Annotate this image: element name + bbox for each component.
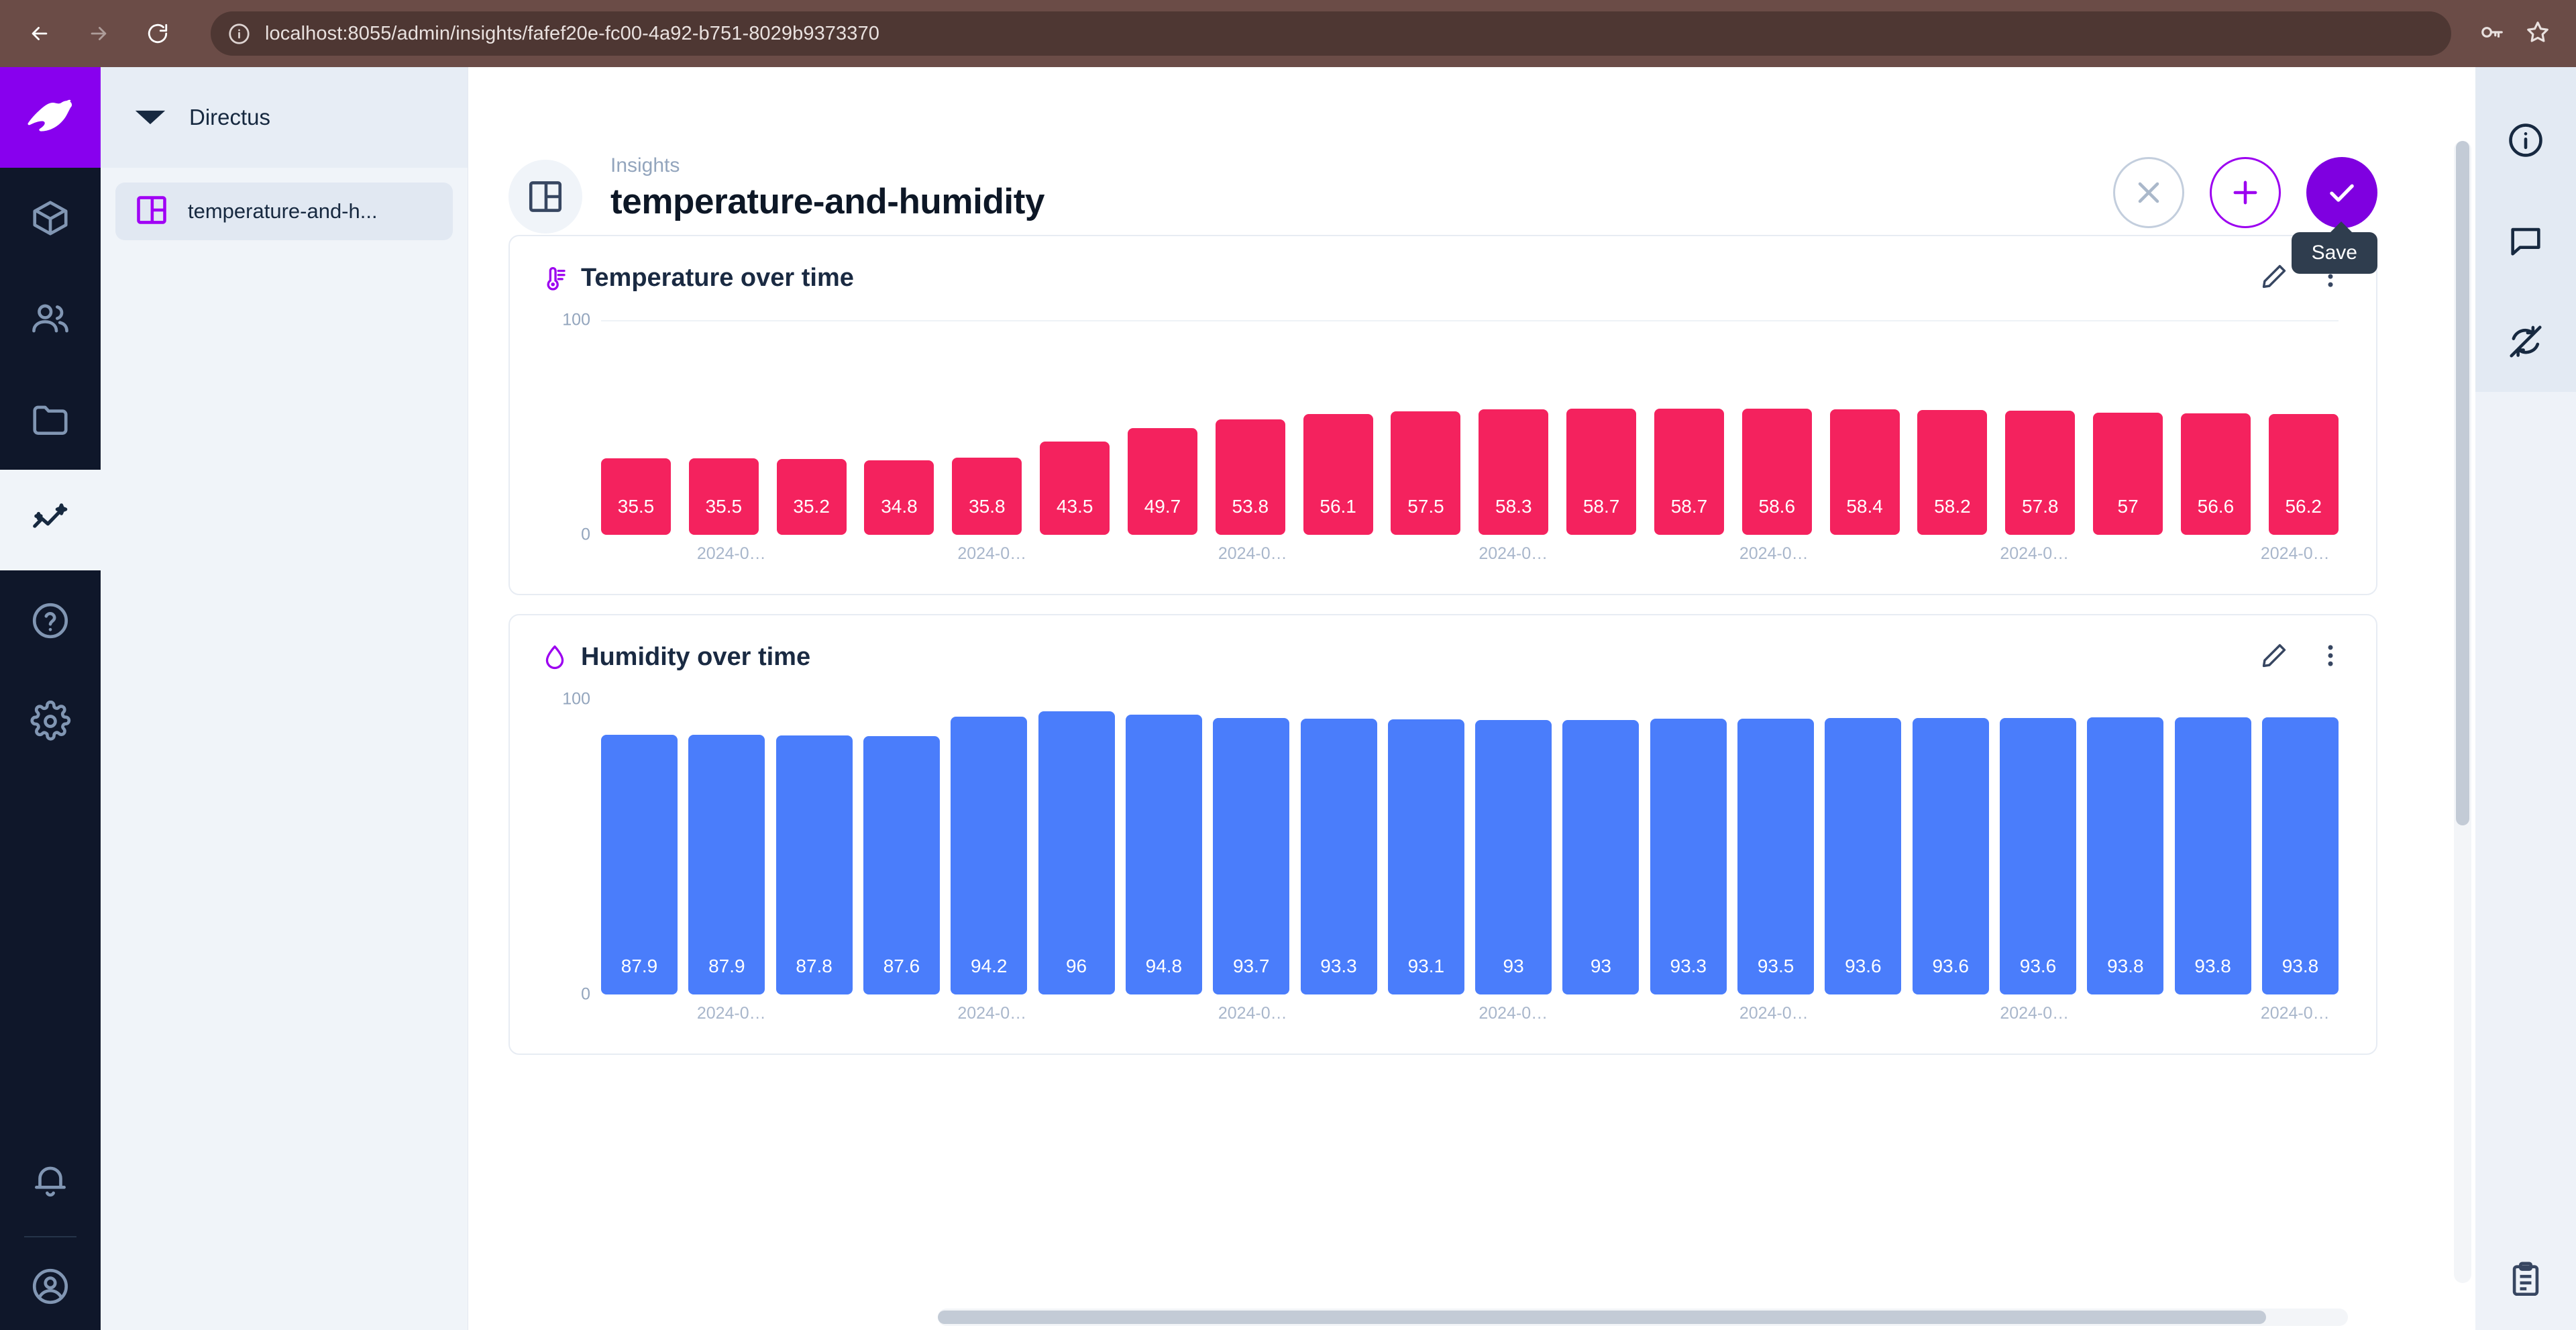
chart-bar[interactable]: 93.8 bbox=[2087, 717, 2163, 994]
bar-value-label: 58.6 bbox=[1759, 496, 1796, 517]
y-axis: 1000 bbox=[547, 699, 590, 994]
chart-bar[interactable]: 87.9 bbox=[601, 735, 678, 994]
chart-bar[interactable]: 58.3 bbox=[1479, 409, 1548, 535]
more-options-icon[interactable] bbox=[2316, 641, 2345, 674]
bar-value-label: 49.7 bbox=[1144, 496, 1181, 517]
vertical-scrollbar-thumb[interactable] bbox=[2456, 141, 2469, 825]
bar-value-label: 93.8 bbox=[2282, 956, 2319, 977]
bar-value-label: 57.8 bbox=[2022, 496, 2059, 517]
bar-value-label: 93 bbox=[1503, 956, 1524, 977]
x-axis: 2024-0…2024-0…2024-0…2024-0…2024-0…2024-… bbox=[601, 544, 2339, 582]
horizontal-scrollbar[interactable] bbox=[938, 1309, 2348, 1326]
module-item-insights[interactable] bbox=[0, 470, 101, 570]
right-sidebar-spacer bbox=[2475, 392, 2576, 1229]
sidebar-item-label: temperature-and-h... bbox=[188, 199, 378, 223]
sidebar-item-dashboard[interactable]: temperature-and-h... bbox=[115, 183, 453, 240]
x-axis-tick-label: 2024-0… bbox=[697, 1004, 766, 1023]
edit-panel-icon[interactable] bbox=[2259, 262, 2289, 295]
info-sidebar-toggle[interactable] bbox=[2475, 90, 2576, 191]
navigation-sidebar: Directus temperature-and-h... bbox=[101, 67, 468, 1330]
x-axis: 2024-0…2024-0…2024-0…2024-0…2024-0…2024-… bbox=[601, 1004, 2339, 1041]
chart-bar[interactable]: 58.6 bbox=[1742, 409, 1812, 535]
panel-title: Humidity over time bbox=[581, 643, 810, 672]
bar-value-label: 93.6 bbox=[1845, 956, 1882, 977]
header-actions: Save bbox=[2113, 157, 2377, 228]
bar-value-label: 87.9 bbox=[621, 956, 658, 977]
project-logo-icon bbox=[131, 97, 169, 138]
dashboard-scroll-area: Insights temperature-and-humidity Save bbox=[468, 67, 2451, 1305]
y-axis-tick-label: 100 bbox=[562, 690, 590, 709]
chart-bar[interactable]: 57.8 bbox=[2005, 411, 2075, 535]
panel-title: Temperature over time bbox=[581, 264, 854, 293]
horizontal-scrollbar-thumb[interactable] bbox=[938, 1311, 2266, 1324]
cancel-button[interactable] bbox=[2113, 157, 2184, 228]
chart-bar[interactable]: 58.7 bbox=[1654, 409, 1724, 535]
bar-value-label: 58.4 bbox=[1846, 496, 1883, 517]
bar-value-label: 35.8 bbox=[969, 496, 1006, 517]
chart-bar[interactable]: 93 bbox=[1562, 720, 1639, 994]
humidity-icon bbox=[541, 644, 569, 672]
bar-value-label: 58.2 bbox=[1934, 496, 1971, 517]
directus-logo[interactable] bbox=[0, 67, 101, 168]
x-axis-tick-label: 2024-0… bbox=[1739, 1004, 1809, 1023]
bar-value-label: 34.8 bbox=[881, 496, 918, 517]
password-key-icon[interactable] bbox=[2479, 19, 2505, 48]
chart-bar[interactable]: 93 bbox=[1475, 720, 1552, 994]
bar-value-label: 87.6 bbox=[883, 956, 920, 977]
bar-value-label: 56.1 bbox=[1320, 496, 1356, 517]
chart-bar[interactable]: 93.6 bbox=[2000, 718, 2076, 994]
sidebar-header: Directus bbox=[101, 67, 468, 168]
chart-bar[interactable]: 43.5 bbox=[1040, 442, 1110, 535]
x-axis-tick-label: 2024-0… bbox=[957, 1004, 1026, 1023]
sidebar-nav-list: temperature-and-h... bbox=[101, 168, 468, 240]
chart-bar[interactable]: 58.2 bbox=[1917, 410, 1987, 535]
panel-list: Temperature over time100035.535.535.234.… bbox=[468, 235, 2451, 1055]
bar-value-label: 93.1 bbox=[1408, 956, 1445, 977]
notifications-icon-button[interactable] bbox=[0, 1130, 101, 1231]
main-content-region: Insights temperature-and-humidity Save bbox=[468, 67, 2475, 1330]
bar-value-label: 93.5 bbox=[1758, 956, 1794, 977]
chart-bar[interactable]: 93.3 bbox=[1301, 719, 1377, 994]
bar-value-label: 57 bbox=[2118, 496, 2139, 517]
bar-value-label: 87.8 bbox=[796, 956, 833, 977]
chart-bar[interactable]: 58.4 bbox=[1830, 409, 1900, 535]
bar-value-label: 93.3 bbox=[1670, 956, 1707, 977]
chart-bar[interactable]: 35.5 bbox=[601, 458, 671, 535]
edit-panel-icon[interactable] bbox=[2259, 641, 2289, 674]
chart-bar[interactable]: 53.8 bbox=[1216, 419, 1285, 535]
x-axis-tick-label: 2024-0… bbox=[1739, 544, 1809, 564]
module-item-settings[interactable] bbox=[0, 671, 101, 772]
chart-plot-area: 100035.535.535.234.835.843.549.753.856.1… bbox=[547, 320, 2339, 535]
bar-value-label: 58.7 bbox=[1583, 496, 1620, 517]
module-item-content[interactable] bbox=[0, 168, 101, 268]
chart-bar[interactable]: 56.2 bbox=[2269, 414, 2339, 535]
bar-value-label: 57.5 bbox=[1407, 496, 1444, 517]
panel-header: Humidity over time bbox=[510, 615, 2376, 679]
x-axis-tick-label: 2024-0… bbox=[1218, 544, 1287, 564]
clipboard-icon[interactable] bbox=[2475, 1229, 2576, 1330]
x-axis-tick-label: 2024-0… bbox=[2261, 1004, 2330, 1023]
bar-chart: 100087.987.987.887.694.29694.893.793.393… bbox=[510, 679, 2376, 1041]
chart-bar[interactable]: 93.8 bbox=[2175, 717, 2251, 994]
x-axis-tick-label: 2024-0… bbox=[1218, 1004, 1287, 1023]
y-axis-tick-label: 0 bbox=[581, 985, 590, 1005]
chart-bar[interactable]: 56.1 bbox=[1303, 414, 1373, 535]
x-axis-tick-label: 2024-0… bbox=[1479, 544, 1548, 564]
bar-value-label: 93 bbox=[1591, 956, 1611, 977]
url-bar[interactable]: localhost:8055/admin/insights/fafef20e-f… bbox=[211, 11, 2451, 56]
bar-chart: 100035.535.535.234.835.843.549.753.856.1… bbox=[510, 300, 2376, 582]
module-bar bbox=[0, 67, 101, 1330]
x-axis-tick-label: 2024-0… bbox=[1479, 1004, 1548, 1023]
chart-plot-area: 100087.987.987.887.694.29694.893.793.393… bbox=[547, 699, 2339, 994]
dashboard-panel: Humidity over time100087.987.987.887.694… bbox=[508, 614, 2377, 1055]
chart-bar[interactable]: 93.8 bbox=[2262, 717, 2339, 994]
vertical-scrollbar[interactable] bbox=[2454, 141, 2471, 1283]
bar-value-label: 56.6 bbox=[2198, 496, 2235, 517]
bar-value-label: 56.2 bbox=[2285, 496, 2322, 517]
bar-value-label: 93.8 bbox=[2107, 956, 2144, 977]
chart-bar[interactable]: 96 bbox=[1038, 711, 1115, 994]
dashboard-icon bbox=[134, 193, 169, 231]
browser-reload-button[interactable] bbox=[137, 13, 178, 54]
bar-value-label: 93.8 bbox=[2194, 956, 2231, 977]
module-item-files[interactable] bbox=[0, 369, 101, 470]
page-title: temperature-and-humidity bbox=[610, 181, 1044, 222]
bar-value-label: 93.6 bbox=[2020, 956, 2057, 977]
page-header-icon bbox=[508, 160, 582, 234]
chart-bar[interactable]: 87.8 bbox=[776, 735, 853, 994]
bar-value-label: 93.7 bbox=[1233, 956, 1270, 977]
chart-bar[interactable]: 57 bbox=[2093, 413, 2163, 535]
chart-bar[interactable]: 93.6 bbox=[1825, 718, 1901, 994]
chart-bar[interactable]: 87.6 bbox=[863, 736, 940, 994]
chart-bar[interactable]: 35.8 bbox=[952, 458, 1022, 535]
chart-bar[interactable]: 35.2 bbox=[777, 459, 847, 535]
panel-tools bbox=[2259, 641, 2345, 674]
y-axis-tick-label: 0 bbox=[581, 525, 590, 545]
bar-value-label: 87.9 bbox=[708, 956, 745, 977]
y-axis: 1000 bbox=[547, 320, 590, 535]
chart-bar[interactable]: 49.7 bbox=[1128, 428, 1197, 535]
chart-bar[interactable]: 94.8 bbox=[1126, 715, 1202, 994]
chart-bar[interactable]: 87.9 bbox=[688, 735, 765, 994]
bars-container: 35.535.535.234.835.843.549.753.856.157.5… bbox=[601, 320, 2339, 535]
bar-value-label: 58.7 bbox=[1671, 496, 1708, 517]
url-text: localhost:8055/admin/insights/fafef20e-f… bbox=[265, 23, 2434, 45]
bar-value-label: 94.2 bbox=[971, 956, 1008, 977]
bar-value-label: 58.3 bbox=[1495, 496, 1532, 517]
bar-value-label: 43.5 bbox=[1057, 496, 1093, 517]
bar-value-label: 35.2 bbox=[793, 496, 830, 517]
breadcrumb[interactable]: Insights bbox=[610, 154, 1044, 177]
module-item-help[interactable] bbox=[0, 570, 101, 671]
save-button[interactable] bbox=[2306, 157, 2377, 228]
chart-bar[interactable]: 57.5 bbox=[1391, 411, 1460, 535]
x-axis-tick-label: 2024-0… bbox=[2261, 544, 2330, 564]
comments-sidebar-toggle[interactable] bbox=[2475, 191, 2576, 291]
save-tooltip: Save bbox=[2292, 232, 2377, 274]
bar-value-label: 94.8 bbox=[1146, 956, 1183, 977]
browser-forward-button[interactable] bbox=[78, 13, 119, 54]
chart-bar[interactable]: 35.5 bbox=[689, 458, 759, 535]
auto-refresh-toggle[interactable] bbox=[2475, 291, 2576, 392]
account-icon-button[interactable] bbox=[0, 1243, 101, 1330]
chart-bar[interactable]: 93.1 bbox=[1388, 719, 1464, 994]
chart-bar[interactable]: 94.2 bbox=[951, 717, 1027, 994]
x-axis-tick-label: 2024-0… bbox=[2000, 1004, 2069, 1023]
chart-bar[interactable]: 93.7 bbox=[1213, 718, 1289, 994]
chart-bar[interactable]: 58.7 bbox=[1566, 409, 1636, 535]
right-sidebar bbox=[2475, 67, 2576, 1330]
add-panel-button[interactable] bbox=[2210, 157, 2281, 228]
x-axis-tick-label: 2024-0… bbox=[697, 544, 766, 564]
bar-value-label: 35.5 bbox=[618, 496, 655, 517]
chart-bar[interactable]: 93.5 bbox=[1737, 719, 1814, 994]
chart-bar[interactable]: 56.6 bbox=[2181, 413, 2251, 535]
module-bar-divider bbox=[24, 1236, 76, 1237]
x-axis-tick-label: 2024-0… bbox=[957, 544, 1026, 564]
bar-value-label: 53.8 bbox=[1232, 496, 1269, 517]
module-item-users[interactable] bbox=[0, 268, 101, 369]
bar-value-label: 93.3 bbox=[1320, 956, 1357, 977]
browser-chrome: localhost:8055/admin/insights/fafef20e-f… bbox=[0, 0, 2576, 67]
project-name: Directus bbox=[189, 105, 270, 130]
x-axis-tick-label: 2024-0… bbox=[2000, 544, 2069, 564]
site-info-icon[interactable] bbox=[228, 23, 250, 45]
bar-value-label: 35.5 bbox=[706, 496, 743, 517]
page-header: Insights temperature-and-humidity Save bbox=[468, 67, 2451, 235]
dashboard-panel: Temperature over time100035.535.535.234.… bbox=[508, 235, 2377, 595]
bar-value-label: 93.6 bbox=[1932, 956, 1969, 977]
chart-bar[interactable]: 34.8 bbox=[864, 460, 934, 535]
bookmark-star-icon[interactable] bbox=[2525, 19, 2551, 48]
bar-value-label: 96 bbox=[1066, 956, 1087, 977]
chart-bar[interactable]: 93.3 bbox=[1650, 719, 1727, 994]
y-axis-tick-label: 100 bbox=[562, 311, 590, 330]
panel-header: Temperature over time bbox=[510, 236, 2376, 300]
thermometer-icon bbox=[541, 264, 569, 293]
chart-bar[interactable]: 93.6 bbox=[1913, 718, 1989, 994]
browser-back-button[interactable] bbox=[19, 13, 60, 54]
bars-container: 87.987.987.887.694.29694.893.793.393.193… bbox=[601, 699, 2339, 994]
